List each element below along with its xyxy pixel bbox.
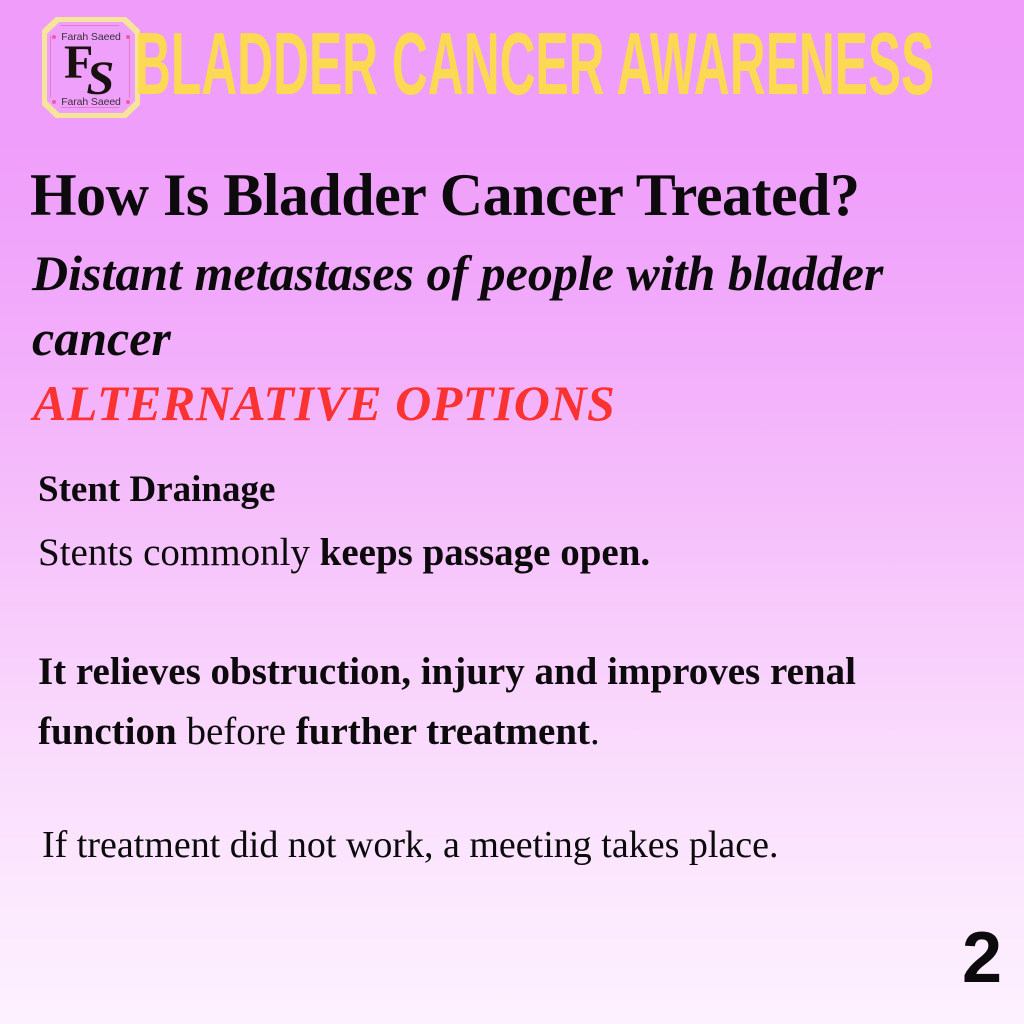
diamond-dot-icon bbox=[52, 100, 56, 104]
logo-monogram: F S bbox=[42, 41, 140, 99]
stents-bold-1: keeps passage open. bbox=[320, 531, 650, 574]
relieves-paragraph: It relieves obstruction, injury and impr… bbox=[38, 642, 998, 762]
banner: Farah Saeed F S Farah Saeed BLADDER CANC… bbox=[0, 0, 1024, 135]
meeting-sentence: If treatment did not work, a meeting tak… bbox=[42, 822, 998, 868]
banner-title: BLADDER CANCER AWARENESS bbox=[135, 18, 997, 110]
relieves-plain-2: . bbox=[590, 710, 600, 753]
diamond-dot-icon bbox=[52, 35, 56, 39]
page-title: How Is Bladder Cancer Treated? bbox=[30, 161, 1000, 229]
stents-plain-1: Stents commonly bbox=[38, 531, 320, 574]
diamond-dot-icon bbox=[126, 35, 130, 39]
relieves-plain-1: before bbox=[186, 710, 295, 753]
sub-heading: Distant metastases of people with bladde… bbox=[32, 241, 912, 371]
page-number: 2 bbox=[962, 922, 1002, 994]
stent-drainage-heading: Stent Drainage bbox=[38, 466, 998, 514]
diamond-dot-icon bbox=[126, 100, 130, 104]
alternative-options-heading: ALTERNATIVE OPTIONS bbox=[33, 372, 933, 434]
body-content: Stent Drainage Stents commonly keeps pas… bbox=[38, 466, 998, 868]
slide-canvas: Farah Saeed F S Farah Saeed BLADDER CANC… bbox=[0, 0, 1024, 1024]
stents-sentence: Stents commonly keeps passage open. bbox=[38, 530, 998, 576]
logo-name-bottom: Farah Saeed bbox=[61, 96, 121, 108]
relieves-bold-2: further treatment bbox=[296, 710, 590, 753]
logo-badge: Farah Saeed F S Farah Saeed bbox=[42, 17, 140, 118]
logo-name-row-bottom: Farah Saeed bbox=[42, 96, 140, 108]
